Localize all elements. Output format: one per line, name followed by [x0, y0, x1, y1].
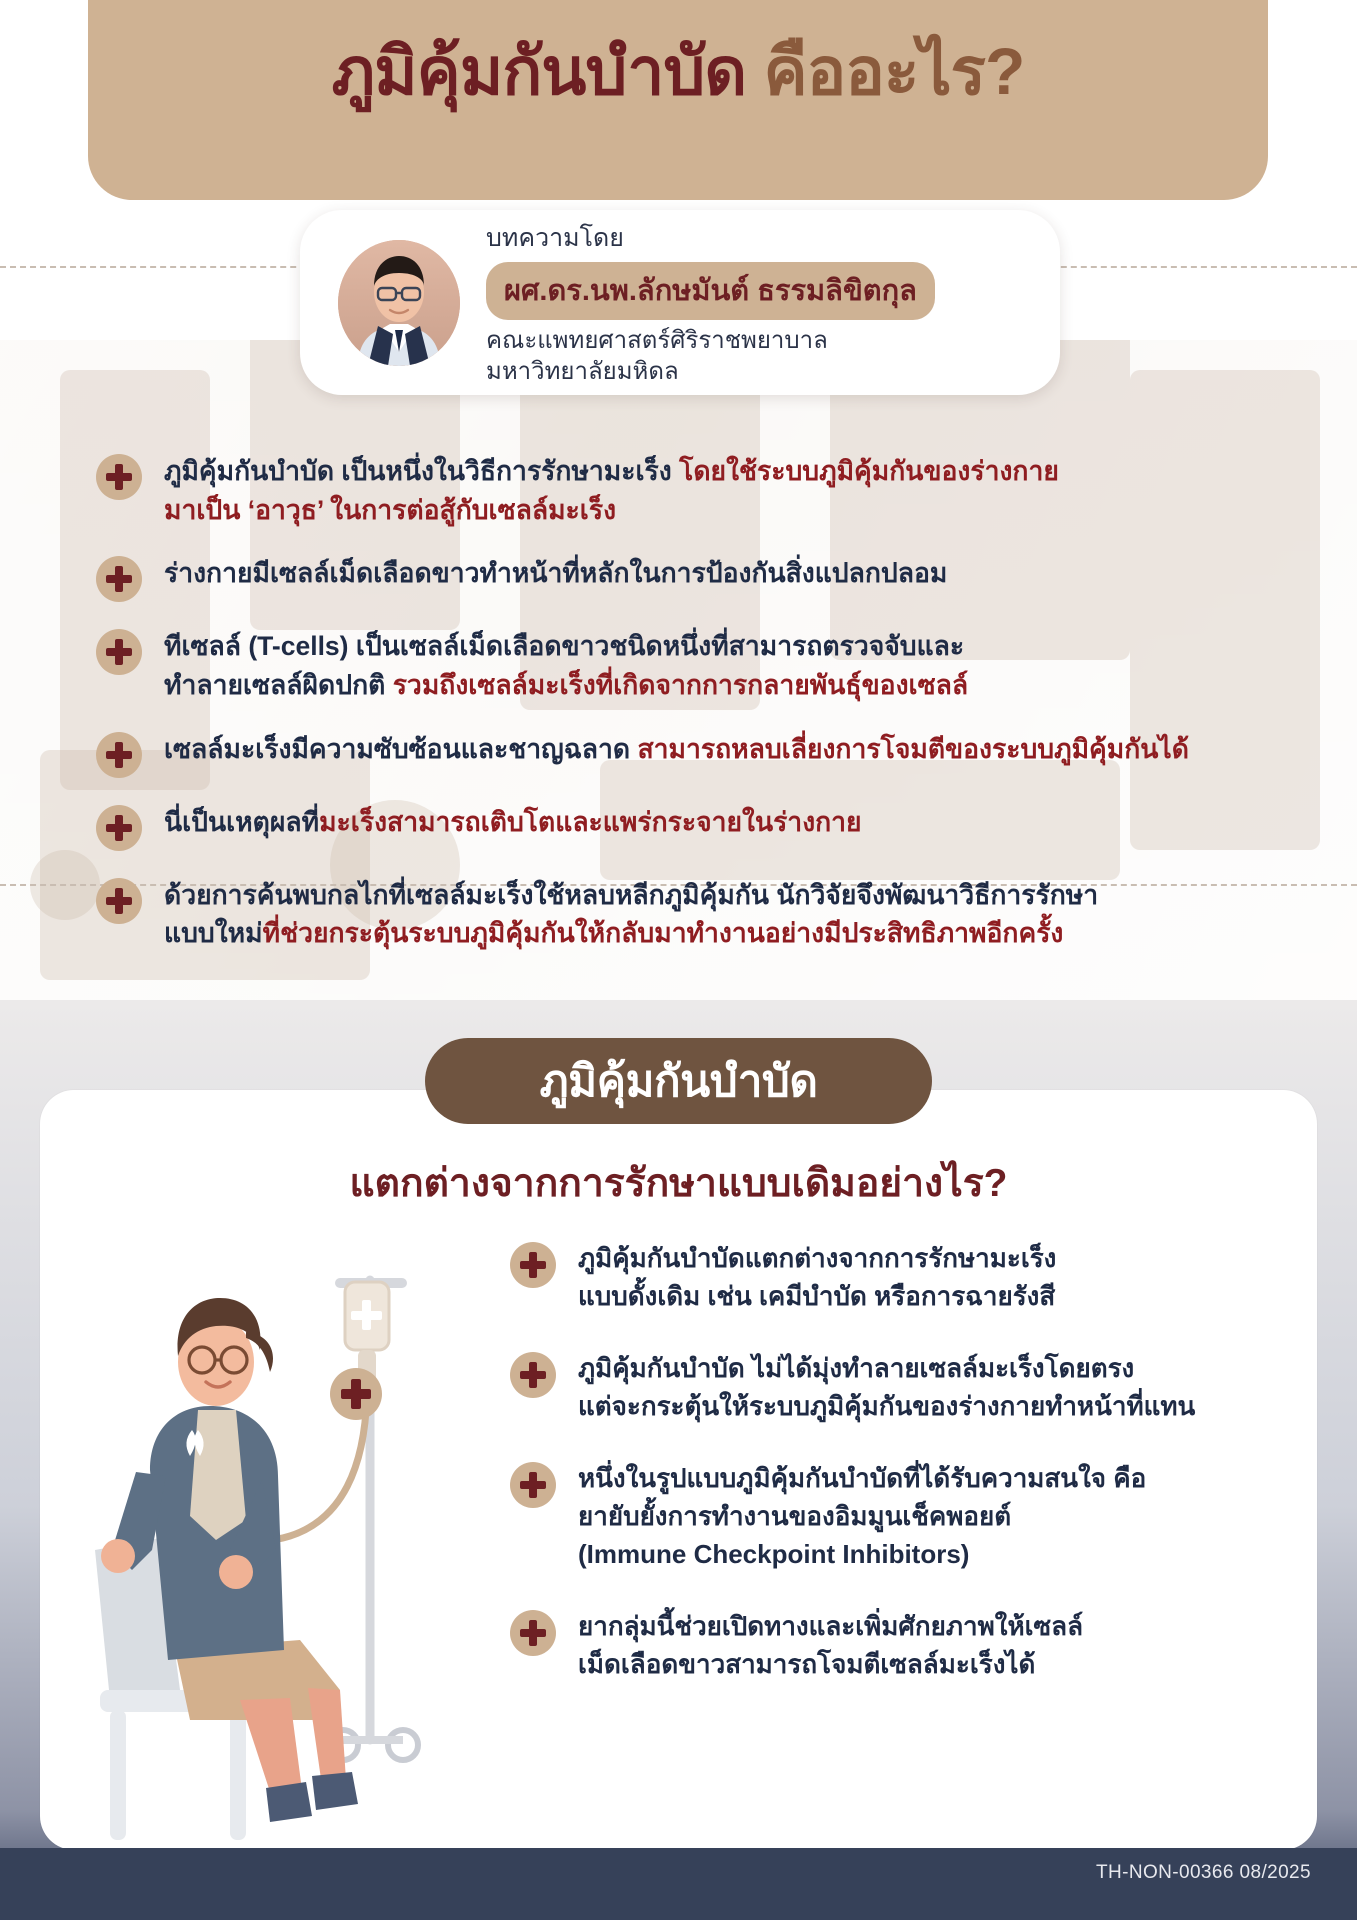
text-line: ภูมิคุ้มกันบำบัด ไม่ได้มุ่งทำลายเซลล์มะเ… [578, 1353, 1134, 1383]
list-item: ด้วยการค้นพบกลไกที่เซลล์มะเร็งใช้หลบหลีก… [96, 876, 1276, 953]
plus-cross-icon [96, 556, 142, 602]
list-item-text: ภูมิคุ้มกันบำบัดแตกต่างจากการรักษามะเร็ง… [578, 1240, 1056, 1316]
plus-cross-icon [330, 1368, 382, 1420]
page-title: ภูมิคุ้มกันบำบัด คืออะไร? [88, 30, 1268, 113]
text-segment: ด้วยการค้นพบกลไกที่เซลล์มะเร็งใช้หลบหลีก… [164, 880, 1098, 910]
text-line: ยากลุ่มนี้ช่วยเปิดทางและเพิ่มศักยภาพให้เ… [578, 1611, 1083, 1641]
list-item-text: ภูมิคุ้มกันบำบัด ไม่ได้มุ่งทำลายเซลล์มะเ… [578, 1350, 1195, 1426]
plus-cross-icon [96, 629, 142, 675]
footer-band [0, 1848, 1357, 1920]
avatar [338, 240, 460, 366]
text-line: หนึ่งในรูปแบบภูมิคุ้มกันบำบัดที่ได้รับคว… [578, 1463, 1146, 1493]
author-name-badge: ผศ.ดร.นพ.ลักษมันต์ ธรรมลิขิตกุล [486, 262, 935, 320]
list-item-text: นี่เป็นเหตุผลที่มะเร็งสามารถเติบโตและแพร… [164, 803, 862, 842]
infographic-poster: ภูมิคุ้มกันบำบัด คืออะไร? [0, 0, 1357, 1920]
plus-cross-icon [510, 1462, 556, 1508]
list-item: ภูมิคุ้มกันบำบัด ไม่ได้มุ่งทำลายเซลล์มะเ… [510, 1350, 1230, 1426]
section-heading-pill: ภูมิคุ้มกันบำบัด [425, 1038, 932, 1124]
patient-receiving-iv-infusion-illustration-icon [40, 1220, 510, 1860]
author-affiliation-line1: คณะแพทยศาสตร์ศิริราชพยาบาล [486, 326, 935, 357]
text-segment-highlight: รวมถึงเซลล์มะเร็งที่เกิดจากการกลายพันธุ์… [393, 670, 968, 700]
plus-cross-icon [96, 454, 142, 500]
list-item: ภูมิคุ้มกันบำบัดแตกต่างจากการรักษามะเร็ง… [510, 1240, 1230, 1316]
list-item: ภูมิคุ้มกันบำบัด เป็นหนึ่งในวิธีการรักษา… [96, 452, 1276, 529]
text-segment-highlight: สามารถหลบเลี่ยงการโจมตีของระบบภูมิคุ้มกั… [637, 734, 1188, 764]
text-segment-highlight: มะเร็งสามารถเติบโตและแพร่กระจายในร่างกาย [319, 807, 862, 837]
text-line: แบบดั้งเดิม เช่น เคมีบำบัด หรือการฉายรัง… [578, 1281, 1055, 1311]
section-subheading: แตกต่างจากการรักษาแบบเดิมอย่างไร? [0, 1152, 1357, 1214]
text-line: แต่จะกระตุ้นให้ระบบภูมิคุ้มกันของร่างกาย… [578, 1391, 1195, 1421]
top-bullet-list: ภูมิคุ้มกันบำบัด เป็นหนึ่งในวิธีการรักษา… [96, 452, 1276, 978]
plus-cross-icon [96, 878, 142, 924]
doctor-portrait-photo-icon [338, 240, 460, 366]
list-item-text: ร่างกายมีเซลล์เม็ดเลือดขาวทำหน้าที่หลักใ… [164, 554, 947, 593]
list-item: หนึ่งในรูปแบบภูมิคุ้มกันบำบัดที่ได้รับคว… [510, 1460, 1230, 1574]
list-item-text: หนึ่งในรูปแบบภูมิคุ้มกันบำบัดที่ได้รับคว… [578, 1460, 1146, 1574]
text-line: ยายับยั้งการทำงานของอิมมูนเช็คพอยต์ [578, 1501, 1011, 1531]
author-affiliation-line2: มหาวิทยาลัยมหิดล [486, 357, 935, 388]
plus-cross-icon [510, 1610, 556, 1656]
text-segment: ภูมิคุ้มกันบำบัด เป็นหนึ่งในวิธีการรักษา… [164, 456, 679, 486]
page-title-main: ภูมิคุ้มกันบำบัด [332, 34, 746, 108]
footer-reference-code: TH-NON-00366 08/2025 [1096, 1862, 1311, 1884]
plus-cross-icon [96, 732, 142, 778]
list-item: เซลล์มะเร็งมีความซับซ้อนและชาญฉลาด สามาร… [96, 730, 1276, 778]
author-details: บทความโดย ผศ.ดร.นพ.ลักษมันต์ ธรรมลิขิตกุ… [486, 218, 935, 387]
author-card: บทความโดย ผศ.ดร.นพ.ลักษมันต์ ธรรมลิขิตกุ… [300, 210, 1060, 395]
list-item: ร่างกายมีเซลล์เม็ดเลือดขาวทำหน้าที่หลักใ… [96, 554, 1276, 602]
list-item-text: ทีเซลล์ (T-cells) เป็นเซลล์เม็ดเลือดขาวช… [164, 627, 968, 704]
text-segment: เซลล์มะเร็งมีความซับซ้อนและชาญฉลาด [164, 734, 637, 764]
text-line: ภูมิคุ้มกันบำบัดแตกต่างจากการรักษามะเร็ง [578, 1243, 1056, 1273]
text-segment: ทีเซลล์ (T-cells) เป็นเซลล์เม็ดเลือดขาวช… [164, 631, 964, 661]
list-item: ทีเซลล์ (T-cells) เป็นเซลล์เม็ดเลือดขาวช… [96, 627, 1276, 704]
list-item-text: ภูมิคุ้มกันบำบัด เป็นหนึ่งในวิธีการรักษา… [164, 452, 1059, 529]
text-segment-highlight: มาเป็น ‘อาวุธ’ ในการต่อสู้กับเซลล์มะเร็ง [164, 495, 616, 525]
text-line: (Immune Checkpoint Inhibitors) [578, 1539, 969, 1569]
list-item-text: ด้วยการค้นพบกลไกที่เซลล์มะเร็งใช้หลบหลีก… [164, 876, 1098, 953]
list-item-text: เซลล์มะเร็งมีความซับซ้อนและชาญฉลาด สามาร… [164, 730, 1189, 769]
author-by-label: บทความโดย [486, 218, 935, 258]
text-segment-highlight: โดยใช้ระบบภูมิคุ้มกันของร่างกาย [679, 456, 1059, 486]
bottom-bullet-list: ภูมิคุ้มกันบำบัดแตกต่างจากการรักษามะเร็ง… [510, 1240, 1230, 1718]
list-item: ยากลุ่มนี้ช่วยเปิดทางและเพิ่มศักยภาพให้เ… [510, 1608, 1230, 1684]
plus-cross-icon [510, 1242, 556, 1288]
text-segment: แบบใหม่ [164, 918, 263, 948]
plus-cross-icon [510, 1352, 556, 1398]
list-item: นี่เป็นเหตุผลที่มะเร็งสามารถเติบโตและแพร… [96, 803, 1276, 851]
text-segment: ร่างกายมีเซลล์เม็ดเลือดขาวทำหน้าที่หลักใ… [164, 558, 947, 588]
text-line: เม็ดเลือดขาวสามารถโจมตีเซลล์มะเร็งได้ [578, 1649, 1035, 1679]
plus-cross-icon [96, 805, 142, 851]
author-affiliation: คณะแพทยศาสตร์ศิริราชพยาบาล มหาวิทยาลัยมห… [486, 326, 935, 387]
text-segment-highlight: ที่ช่วยกระตุ้นระบบภูมิคุ้มกันให้กลับมาทำ… [263, 918, 1064, 948]
page-title-question: คืออะไร? [763, 34, 1024, 108]
text-segment: นี่เป็นเหตุผลที่ [164, 807, 319, 837]
list-item-text: ยากลุ่มนี้ช่วยเปิดทางและเพิ่มศักยภาพให้เ… [578, 1608, 1083, 1684]
text-segment: ทำลายเซลล์ผิดปกติ [164, 670, 393, 700]
